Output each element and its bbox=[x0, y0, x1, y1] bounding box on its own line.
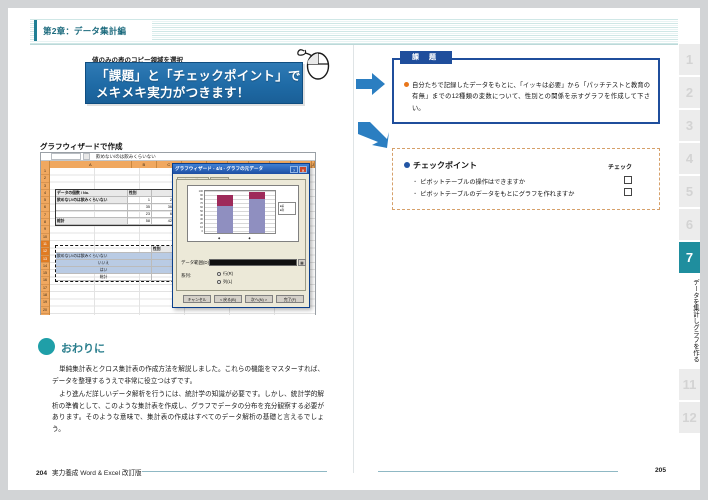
section-bullet-icon bbox=[38, 338, 55, 355]
preview-y-axis: 1009080706050403020100 bbox=[191, 190, 203, 234]
section-heading: おわりに bbox=[61, 340, 105, 356]
arrow-down-right-icon bbox=[356, 120, 390, 155]
blue-bullet-icon bbox=[404, 162, 410, 168]
chapter-tab-2[interactable]: 2 bbox=[679, 77, 700, 108]
preview-x-labels: ◆◆ bbox=[204, 236, 276, 240]
chapter-header-label: 第2章：データ集計編 bbox=[43, 25, 126, 37]
chart-wizard-dialog[interactable]: グラフウィザード - 4/4 - グラフの元データ ? ✕ データ範囲 系列 1… bbox=[172, 163, 310, 308]
arrow-right-icon bbox=[356, 72, 386, 101]
finish-button[interactable]: 完了(F) bbox=[276, 295, 304, 303]
next-button[interactable]: 次へ(N) > bbox=[245, 295, 273, 303]
cancel-button[interactable]: キャンセル bbox=[183, 295, 211, 303]
footer-book-title: 実力養成 Word & Excel 改訂版 bbox=[52, 470, 142, 477]
body-paragraph-2: より進んだ詳しいデータ解析を行うには、統計学の知識が必要です。しかし、統計学的解… bbox=[52, 389, 324, 435]
checkpoint-column-header: チェック bbox=[608, 162, 632, 171]
preview-plot-area bbox=[204, 190, 276, 234]
chapter-header-tab: 第2章：データ集計編 bbox=[34, 20, 152, 41]
callout-line-2: メキメキ実力がつきます！ bbox=[96, 85, 294, 102]
close-icon[interactable]: ✕ bbox=[299, 166, 307, 173]
help-button[interactable]: ? bbox=[290, 166, 298, 173]
checkpoint-item-2: ・ピボットテーブルのデータをもとにグラフを作れますか bbox=[412, 189, 574, 198]
orange-bullet-icon bbox=[404, 82, 409, 87]
back-button[interactable]: < 戻る(B) bbox=[214, 295, 242, 303]
page-frame-left bbox=[0, 0, 8, 500]
chapter-tab-3[interactable]: 3 bbox=[679, 110, 700, 141]
page-frame-bottom bbox=[0, 490, 708, 500]
footer-rule-left bbox=[142, 471, 327, 472]
excel-row-headers[interactable]: 123 456 789 101112 131415 161718 1920 bbox=[41, 168, 50, 315]
footer-page-number-right: 205 bbox=[655, 467, 666, 474]
chapter-tab-11[interactable]: 11 bbox=[679, 369, 700, 400]
chapter-tab-4[interactable]: 4 bbox=[679, 143, 700, 174]
chapter-tab-6[interactable]: 6 bbox=[679, 209, 700, 240]
page-frame-right bbox=[700, 0, 708, 500]
radio-columns[interactable]: 列(L) bbox=[217, 279, 232, 285]
header-rule bbox=[30, 44, 678, 45]
radio-rows[interactable]: 行(R) bbox=[217, 271, 233, 277]
dialog-buttons[interactable]: キャンセル < 戻る(B) 次へ(N) > 完了(F) bbox=[176, 293, 306, 304]
excel-name-box[interactable] bbox=[51, 153, 81, 160]
series-label: 系列: bbox=[181, 273, 191, 279]
dialog-titlebar[interactable]: グラフウィザード - 4/4 - グラフの元データ ? ✕ bbox=[173, 164, 309, 174]
preview-bar-2 bbox=[249, 192, 265, 233]
chart-preview: 1009080706050403020100 ■系■列 ◆◆ bbox=[187, 185, 299, 242]
chapter-tab-5[interactable]: 5 bbox=[679, 176, 700, 207]
checkbox-1[interactable] bbox=[624, 176, 632, 184]
footer-page-number-left: 204 bbox=[36, 470, 47, 477]
chapter-tab-12[interactable]: 12 bbox=[679, 402, 700, 433]
checkpoint-title: チェックポイント bbox=[404, 160, 477, 171]
preview-bar-1 bbox=[217, 195, 233, 233]
chart-wizard-caption: グラフウィザードで作成 bbox=[40, 141, 123, 152]
page-frame-top bbox=[0, 0, 708, 8]
mouse-icon bbox=[296, 47, 332, 81]
checkpoint-item-1: ・ピボットテーブルの操作はできますか bbox=[412, 177, 525, 186]
chapter-tab-strip[interactable]: 1 2 3 4 5 6 7 データを集計しグラフを作る 11 12 bbox=[679, 44, 700, 435]
excel-formula-bar[interactable]: 飲めない/のは飲みくらいない bbox=[41, 153, 315, 161]
excel-fx-icon bbox=[83, 153, 90, 160]
checkbox-2[interactable] bbox=[624, 188, 632, 196]
range-label: データ範囲(D): bbox=[181, 260, 210, 266]
chapter-tab-7-label: データを集計しグラフを作る bbox=[679, 275, 700, 367]
task-text: 自分たちで記録したデータをもとに、「イッキは必要」から「パッチテストと教育の有無… bbox=[412, 80, 650, 114]
page-spine bbox=[353, 18, 354, 473]
body-paragraph-1: 単純集計表とクロス集計表の作成方法を解説しました。これらの機能をマスターすれば、… bbox=[52, 364, 324, 387]
callout-banner: 「課題」と「チェックポイント」で メキメキ実力がつきます！ bbox=[85, 62, 303, 104]
dialog-body: 1009080706050403020100 ■系■列 ◆◆ bbox=[176, 179, 306, 291]
range-input[interactable] bbox=[209, 259, 297, 266]
preview-legend: ■系■列 bbox=[278, 202, 296, 215]
task-tag: 課 題 bbox=[400, 51, 452, 64]
callout-line-1: 「課題」と「チェックポイント」で bbox=[96, 68, 294, 85]
range-picker-icon[interactable]: ▦ bbox=[298, 259, 306, 266]
dialog-title: グラフウィザード - 4/4 - グラフの元データ bbox=[175, 166, 289, 172]
excel-formula-value: 飲めない/のは飲みくらいない bbox=[96, 154, 156, 160]
chapter-tab-7[interactable]: 7 bbox=[679, 242, 700, 273]
chapter-tab-1[interactable]: 1 bbox=[679, 44, 700, 75]
footer-rule-right bbox=[378, 471, 618, 472]
footer-left: 204実力養成 Word & Excel 改訂版 bbox=[36, 467, 142, 477]
book-page-spread: 第2章：データ集計編 値のみの表のコピー領域を選択 グラフウィザードで作成 「課… bbox=[0, 0, 708, 500]
